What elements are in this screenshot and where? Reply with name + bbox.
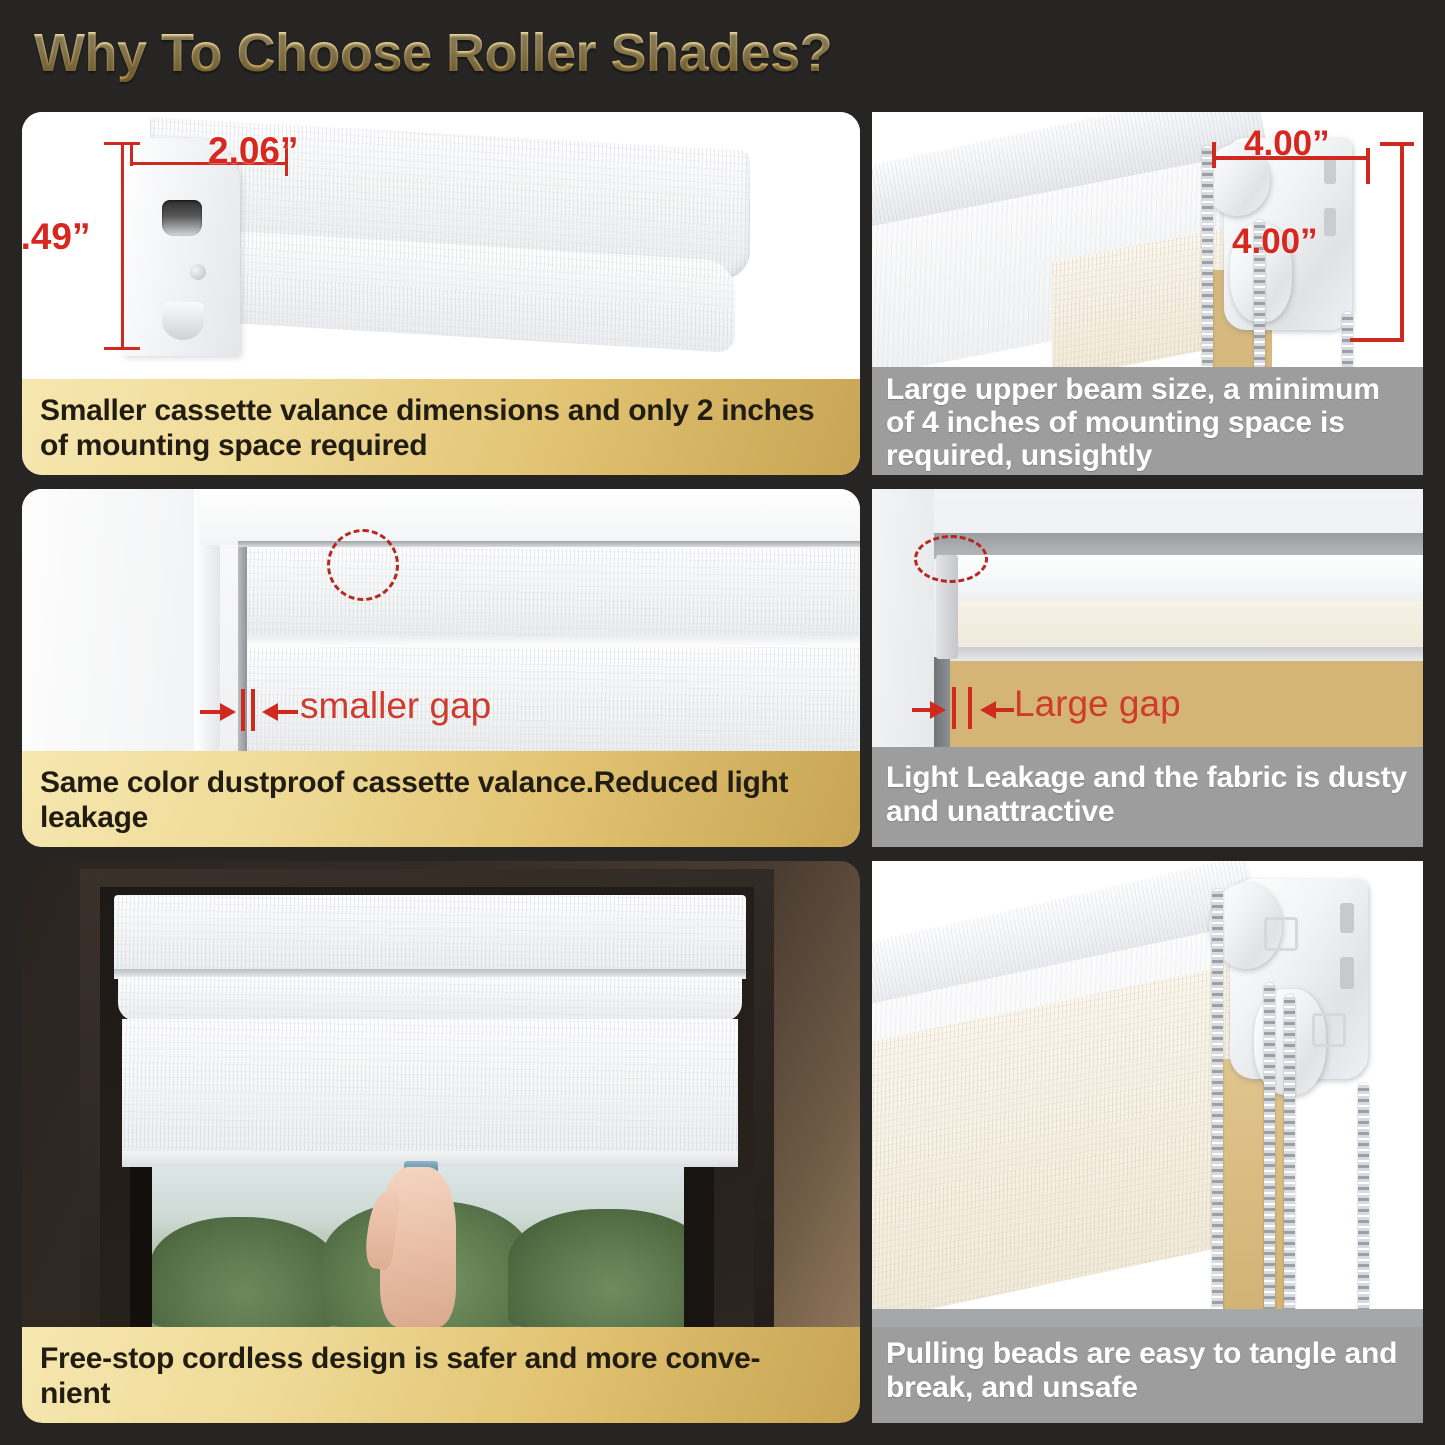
bracket-slot-mid	[1340, 957, 1354, 989]
smaller-gap-label: smaller gap	[300, 685, 491, 727]
upper-beam-valance	[938, 555, 1423, 607]
height-dim-line	[121, 142, 124, 350]
bead-chain-4	[1358, 1083, 1369, 1327]
panel-4-photo: Large gap	[872, 489, 1423, 747]
height-dim-tick-bottom	[104, 347, 140, 350]
panel-4-caption-band: Light Leakage and the fabric is dusty an…	[872, 747, 1423, 847]
beam-height-label: 4.00”	[1232, 222, 1318, 262]
panel-cassette-valance-dimensions[interactable]: 2.06” 5.49” Smaller cassette valance dim…	[22, 112, 860, 475]
panel-5-caption-line-2: nient	[40, 1376, 110, 1411]
comparison-grid: 2.06” 5.49” Smaller cassette valance dim…	[0, 0, 1445, 1445]
panel-6-caption-text: Pulling beads are easy to tangle and bre…	[886, 1337, 1411, 1405]
panel-6-caption-band: Pulling beads are easy to tangle and bre…	[872, 1327, 1423, 1423]
bracket-slot-top	[1340, 903, 1354, 933]
panel-dustproof-cassette-valance[interactable]: smaller gap Same color dustproof cassett…	[22, 489, 860, 847]
gap-arrow-left-head	[262, 703, 278, 721]
gap-tick-left	[241, 689, 245, 731]
bracket-screw	[190, 264, 206, 280]
gap-arrow-right-head	[220, 703, 236, 721]
beam-height-dim-line	[1400, 142, 1404, 342]
panel-3-caption-band: Same color dustproof cassette valance.Re…	[22, 751, 860, 847]
panel-1-photo: 2.06” 5.49”	[22, 112, 860, 379]
valance-head-lower	[118, 977, 742, 1021]
gap-arrow-right-line	[278, 710, 298, 714]
height-dimension-label: 5.49”	[22, 216, 91, 258]
panel-light-leakage-dusty-fabric[interactable]: Large gap Light Leakage and the fabric i…	[872, 489, 1423, 847]
panel-4-caption-text: Light Leakage and the fabric is dusty an…	[886, 761, 1411, 829]
panel-3-caption-text: Same color dustproof cassette valance.Re…	[40, 765, 842, 835]
panel-6-photo	[872, 861, 1423, 1327]
width-dimension-label: 2.06”	[208, 130, 299, 172]
panel-1-caption-text: Smaller cassette valance dimensions and …	[40, 393, 842, 463]
window-mullion-right	[684, 1161, 714, 1327]
beam-width-label: 4.00”	[1244, 124, 1330, 164]
panel-1-caption-band: Smaller cassette valance dimensions and …	[22, 379, 860, 475]
large-gap-tick-left	[952, 687, 956, 729]
panel-2-caption-band: Large upper beam size, a minimum of 4 in…	[872, 367, 1423, 475]
large-gap-arrow-right-head	[930, 701, 946, 719]
large-gap-arrow-left-head	[980, 701, 996, 719]
valance-cream-face	[938, 601, 1423, 649]
large-gap-left-line	[912, 708, 932, 712]
panel-large-upper-beam[interactable]: 4.00” 4.00” Large upper beam size, a min…	[872, 112, 1423, 475]
panel-2-caption-text: Large upper beam size, a minimum of 4 in…	[886, 373, 1411, 472]
beam-width-tick-right	[1366, 148, 1370, 184]
bracket-mount-slot-b	[1324, 208, 1336, 236]
beam-width-tick-left	[1212, 142, 1216, 168]
valance-lower-rail	[938, 647, 1423, 661]
shade-fabric-khaki-back	[1220, 1059, 1292, 1327]
tree-foliage-left	[150, 1217, 340, 1327]
valance-bottom-rail	[246, 635, 860, 647]
bracket-slot	[162, 200, 202, 236]
large-gap-right-line	[996, 708, 1014, 712]
panel-5-caption-band: Free-stop cordless design is safer and m…	[22, 1327, 860, 1423]
bead-chain-3	[1284, 995, 1295, 1327]
window-frame-left	[22, 489, 212, 751]
window-mullion-left	[130, 1161, 152, 1327]
panel-3-photo: smaller gap	[22, 489, 860, 751]
panel-5-photo	[22, 861, 860, 1327]
beam-height-tick-top	[1380, 142, 1414, 146]
panel-pulling-beads-unsafe[interactable]: Pulling beads are easy to tangle and bre…	[872, 861, 1423, 1423]
large-gap-tick-right	[968, 687, 972, 729]
cassette-valance-head	[114, 895, 746, 973]
roller-shade-fabric	[122, 1019, 738, 1161]
window-frame-top	[200, 489, 860, 545]
gap-arrow-left-line	[200, 710, 222, 714]
panel-5-caption-line-1: Free-stop cordless design is safer and m…	[40, 1341, 760, 1376]
bead-chain-1	[1212, 889, 1223, 1327]
bracket-embossed-icon-upper	[1264, 917, 1298, 951]
leak-highlight-ellipse	[914, 535, 988, 583]
gap-tick-right	[251, 689, 255, 731]
bead-chain-2	[1264, 983, 1275, 1327]
large-gap-label: Large gap	[1014, 683, 1181, 725]
floor-shadow-strip	[872, 1309, 1423, 1327]
gap-highlight-circle	[327, 529, 399, 601]
panel-free-stop-cordless-design[interactable]: Free-stop cordless design is safer and m…	[22, 861, 860, 1423]
bead-chain-left	[1202, 146, 1213, 367]
bracket-embossed-icon-lower	[1312, 1013, 1346, 1047]
beam-height-tick-bottom	[1350, 338, 1404, 342]
height-dim-tick-top	[104, 142, 140, 145]
bracket-knob	[162, 302, 204, 340]
width-dim-tick-left	[130, 142, 133, 166]
panel-2-photo: 4.00” 4.00”	[872, 112, 1423, 367]
